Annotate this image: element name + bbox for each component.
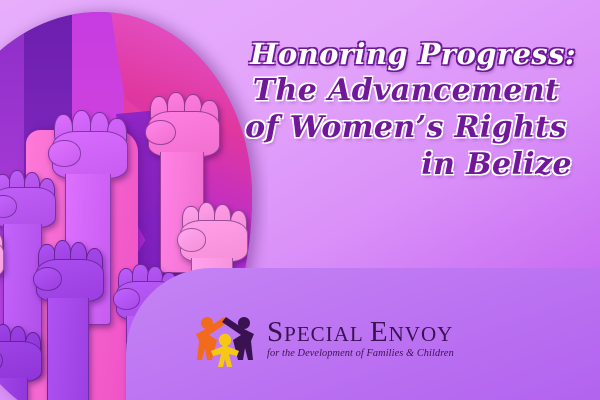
palm [0,341,42,382]
page-title: Honoring Progress: The Advancement of Wo… [236,40,576,187]
thumb [177,228,207,252]
title-line-3: of Women’s Rights [236,113,576,143]
forearm [47,298,89,400]
brand-cap-e: E [370,316,389,348]
thumb [48,140,81,167]
forearm [0,378,28,400]
poster-canvas: Honoring Progress: The Advancement of Wo… [0,0,600,400]
brand-cap-s: S [267,316,284,348]
figure-center-body [211,345,239,367]
three-people-house-icon [192,310,258,368]
brand-rest-nvoy: NVOY [389,322,454,346]
fist-8 [0,324,40,400]
figure-center-head [219,334,231,346]
thumb [145,120,176,145]
brand-name: SPECIAL ENVOY [267,318,454,347]
brand-rest-pecial: PECIAL [284,322,364,346]
special-envoy-logo: SPECIAL ENVOY for the Development of Fam… [192,310,454,368]
title-line-2: The Advancement [236,76,576,106]
title-line-1: Honoring Progress: [236,40,576,69]
logo-wordmark: SPECIAL ENVOY for the Development of Fam… [267,318,454,359]
fist-5 [36,240,102,400]
thumb [113,288,140,310]
title-line-4: in Belize [236,150,576,180]
logo-tagline: for the Development of Families & Childr… [267,349,454,359]
